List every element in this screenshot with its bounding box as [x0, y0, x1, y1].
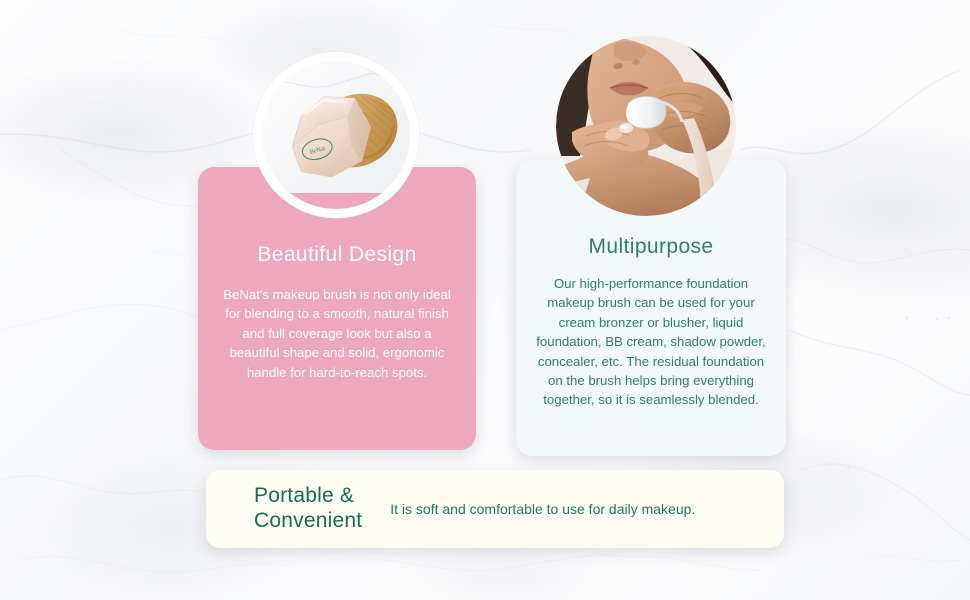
card-body-beautiful-design: BeNat's makeup brush is not only ideal f… [218, 285, 456, 382]
bar-title-portable-convenient: Portable & Convenient [254, 484, 362, 534]
foundation-application-illustration [556, 36, 736, 216]
card-body-multipurpose: Our high-performance foundation makeup b… [534, 274, 768, 410]
feature-bar-portable-convenient: Portable & Convenient It is soft and com… [206, 470, 784, 548]
bar-body-portable-convenient: It is soft and comfortable to use for da… [390, 499, 695, 519]
card-title-multipurpose: Multipurpose [534, 235, 768, 259]
brush-product-photo: BeNat [253, 52, 419, 218]
card-title-beautiful-design: Beautiful Design [218, 243, 456, 267]
foundation-application-photo [556, 36, 736, 216]
brush-product-illustration: BeNat [262, 61, 410, 209]
